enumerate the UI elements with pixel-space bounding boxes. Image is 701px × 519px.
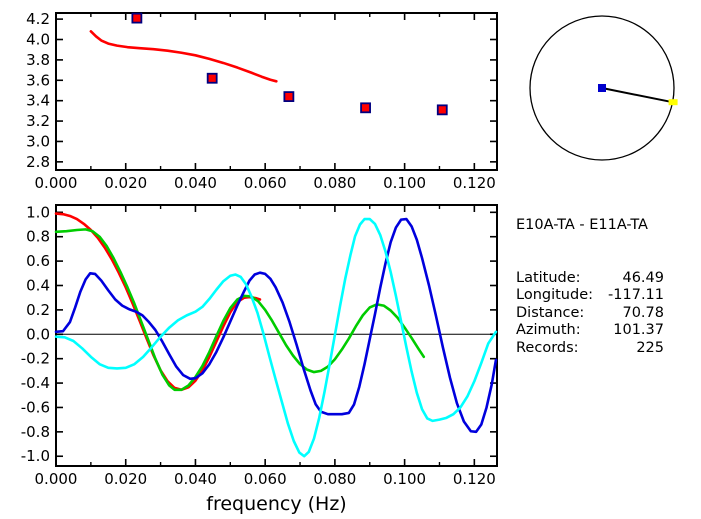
x-tick-label: 0.000	[35, 470, 78, 488]
y-tick-label: -0.6	[21, 398, 50, 416]
station-pair-title: E10A-TA - E11A-TA	[516, 217, 701, 235]
station-info-label: Records:	[516, 340, 602, 358]
y-tick-label: 0.6	[26, 252, 50, 270]
station-info-value: 70.78	[602, 305, 664, 323]
station-info-label: Longitude:	[516, 287, 602, 305]
data-point-marker	[361, 103, 370, 112]
plot-frame	[56, 13, 497, 170]
dial-ray-line	[602, 88, 673, 102]
figure-canvas: 2.83.03.23.43.63.84.04.20.0000.0200.0400…	[0, 0, 701, 519]
y-tick-label: 3.2	[26, 112, 50, 130]
x-axis-title: frequency (Hz)	[206, 493, 346, 515]
data-point-marker	[208, 74, 217, 83]
y-tick-label: 3.4	[26, 92, 50, 110]
x-tick-label: 0.040	[174, 470, 217, 488]
station-info-block: E10A-TA - E11A-TA Latitude:46.49Longitud…	[516, 182, 701, 392]
x-tick-label: 0.040	[174, 174, 217, 192]
dial-center-station-marker	[598, 84, 606, 92]
x-tick-label: 0.020	[104, 470, 147, 488]
y-tick-label: 3.6	[26, 71, 50, 89]
station-info-value: 225	[602, 340, 664, 358]
x-tick-label: 0.120	[453, 174, 496, 192]
station-info-row: Distance:70.78	[516, 305, 701, 323]
y-tick-label: 3.8	[26, 51, 50, 69]
station-info-row: Records:225	[516, 340, 701, 358]
station-info-row: Longitude:-117.11	[516, 287, 701, 305]
y-tick-label: -0.2	[21, 350, 50, 368]
station-info-value: 101.37	[602, 322, 664, 340]
x-tick-label: 0.120	[453, 470, 496, 488]
y-tick-label: -0.8	[21, 423, 50, 441]
station-info-row: Azimuth:101.37	[516, 322, 701, 340]
y-tick-label: 0.8	[26, 228, 50, 246]
y-tick-label: 4.2	[26, 10, 50, 28]
station-info-row: Latitude:46.49	[516, 270, 701, 288]
station-info-label: Distance:	[516, 305, 602, 323]
y-tick-label: 0.0	[26, 325, 50, 343]
data-point-marker	[438, 105, 447, 114]
station-info-label: Azimuth:	[516, 322, 602, 340]
x-tick-label: 0.060	[244, 470, 287, 488]
y-tick-label: -0.4	[21, 374, 50, 392]
series-line-model-dispersion-curve	[91, 31, 276, 81]
x-tick-label: 0.080	[313, 174, 356, 192]
dial-edge-station-marker	[669, 99, 678, 105]
x-tick-label: 0.060	[244, 174, 287, 192]
x-tick-label: 0.100	[383, 470, 426, 488]
azimuth-dial	[530, 16, 678, 160]
station-info-value: -117.11	[602, 287, 664, 305]
data-point-marker	[132, 14, 141, 23]
y-tick-label: 0.4	[26, 276, 50, 294]
plot-frame	[56, 205, 497, 466]
x-tick-label: 0.020	[104, 174, 147, 192]
station-info-rows: Latitude:46.49Longitude:-117.11Distance:…	[516, 270, 701, 358]
x-tick-label: 0.000	[35, 174, 78, 192]
y-tick-label: 3.0	[26, 132, 50, 150]
station-info-label: Latitude:	[516, 270, 602, 288]
series-line-cross-correlation-green	[56, 229, 424, 389]
y-tick-label: 4.0	[26, 31, 50, 49]
x-tick-label: 0.100	[383, 174, 426, 192]
top-panel-plot: 2.83.03.23.43.63.84.04.20.0000.0200.0400…	[26, 10, 497, 192]
station-info-value: 46.49	[602, 270, 664, 288]
x-tick-label: 0.080	[313, 470, 356, 488]
series-line-cross-correlation-cyan	[56, 219, 496, 456]
data-point-marker	[284, 92, 293, 101]
bottom-panel-plot: -1.0-0.8-0.6-0.4-0.20.00.20.40.60.81.00.…	[21, 203, 497, 515]
y-tick-label: 0.2	[26, 301, 50, 319]
y-tick-label: 1.0	[26, 203, 50, 221]
y-tick-label: 2.8	[26, 153, 50, 171]
y-tick-label: -1.0	[21, 447, 50, 465]
